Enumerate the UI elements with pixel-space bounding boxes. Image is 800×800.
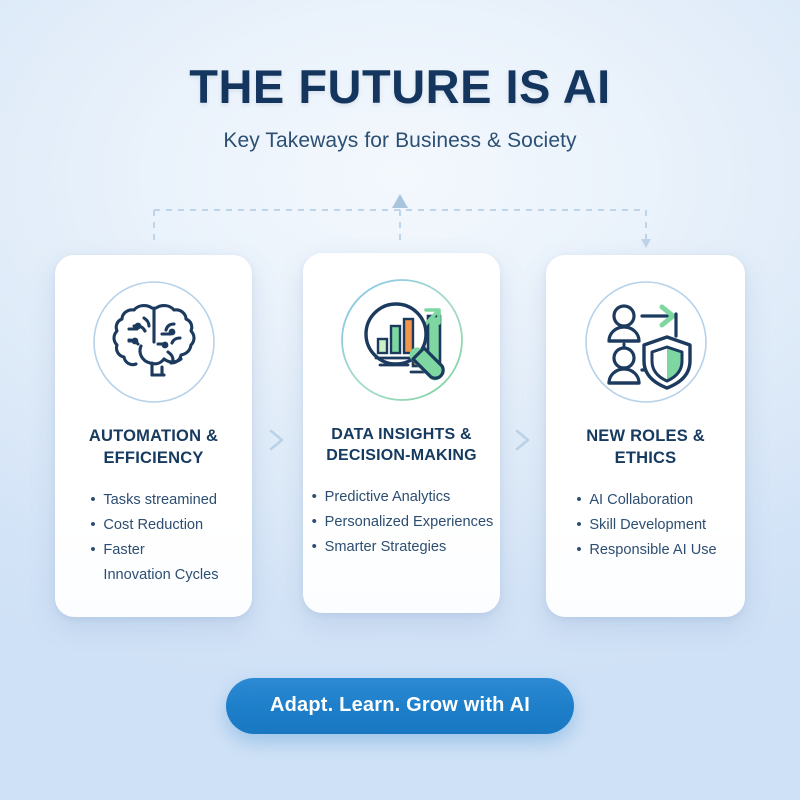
list-item-label: Cost Reduction bbox=[103, 517, 203, 533]
icon-container bbox=[546, 274, 745, 410]
bullet-list-wrap: Predictive Analytics Personalized Experi… bbox=[303, 467, 500, 560]
icon-container bbox=[55, 274, 252, 410]
header: THE FUTURE IS AI Key Takeways for Busine… bbox=[0, 62, 800, 153]
list-item: AI Collaboration bbox=[574, 488, 716, 513]
list-item-label: Responsible AI Use bbox=[589, 542, 716, 558]
list-item: Personalized Experiences bbox=[310, 510, 494, 535]
list-item: FasterInnovation Cycles bbox=[88, 538, 218, 588]
list-item-label: Faster bbox=[103, 542, 144, 558]
bullet-list: AI Collaboration Skill Development Respo… bbox=[574, 488, 716, 563]
chevron-right-icon-1 bbox=[266, 427, 288, 453]
list-item: Responsible AI Use bbox=[574, 538, 716, 563]
chevron-right-icon-2 bbox=[512, 427, 534, 453]
page-subtitle: Key Takeways for Business & Society bbox=[0, 129, 800, 153]
people-shield-transition-icon bbox=[578, 274, 714, 410]
page-title: THE FUTURE IS AI bbox=[0, 62, 800, 111]
card-data-insights-decision-making[interactable]: DATA INSIGHTS & DECISION-MAKING Predicti… bbox=[303, 253, 500, 613]
list-item: Smarter Strategies bbox=[310, 535, 494, 560]
card-title: AUTOMATION & EFFICIENCY bbox=[65, 426, 242, 470]
list-item: Predictive Analytics bbox=[310, 485, 494, 510]
bullet-list: Predictive Analytics Personalized Experi… bbox=[310, 485, 494, 560]
list-item: Skill Development bbox=[574, 513, 716, 538]
list-item-label: Personalized Experiences bbox=[325, 514, 494, 530]
dashed-bracket-connector bbox=[0, 186, 800, 258]
list-item: Tasks streamined bbox=[88, 488, 218, 513]
icon-container bbox=[303, 272, 500, 408]
bullet-list-wrap: Tasks streamined Cost Reduction FasterIn… bbox=[55, 470, 252, 588]
list-item-label: Predictive Analytics bbox=[325, 489, 451, 505]
cards-row: AUTOMATION & EFFICIENCY Tasks streamined… bbox=[0, 253, 800, 619]
infographic-canvas: THE FUTURE IS AI Key Takeways for Busine… bbox=[0, 0, 800, 800]
list-item-label-cont: Innovation Cycles bbox=[103, 563, 218, 588]
magnifier-bar-chart-growth-icon bbox=[334, 272, 470, 408]
card-title: NEW ROLES & ETHICS bbox=[556, 426, 735, 470]
list-item-label: Smarter Strategies bbox=[325, 539, 447, 555]
arrow-down-tip-icon bbox=[641, 239, 651, 248]
card-new-roles-ethics[interactable]: NEW ROLES & ETHICS AI Collaboration Skil… bbox=[546, 255, 745, 617]
brain-circuit-icon bbox=[86, 274, 222, 410]
bullet-list: Tasks streamined Cost Reduction FasterIn… bbox=[88, 488, 218, 588]
cta-container: Adapt. Learn. Grow with AI bbox=[0, 678, 800, 734]
list-item-label: Skill Development bbox=[589, 517, 706, 533]
list-item-label: AI Collaboration bbox=[589, 492, 693, 508]
list-item-label: Tasks streamined bbox=[103, 492, 217, 508]
list-item: Cost Reduction bbox=[88, 513, 218, 538]
bullet-list-wrap: AI Collaboration Skill Development Respo… bbox=[546, 470, 745, 563]
card-title: DATA INSIGHTS & DECISION-MAKING bbox=[313, 424, 490, 467]
cta-button[interactable]: Adapt. Learn. Grow with AI bbox=[226, 678, 574, 734]
arrow-up-icon bbox=[392, 194, 408, 208]
card-automation-efficiency[interactable]: AUTOMATION & EFFICIENCY Tasks streamined… bbox=[55, 255, 252, 617]
